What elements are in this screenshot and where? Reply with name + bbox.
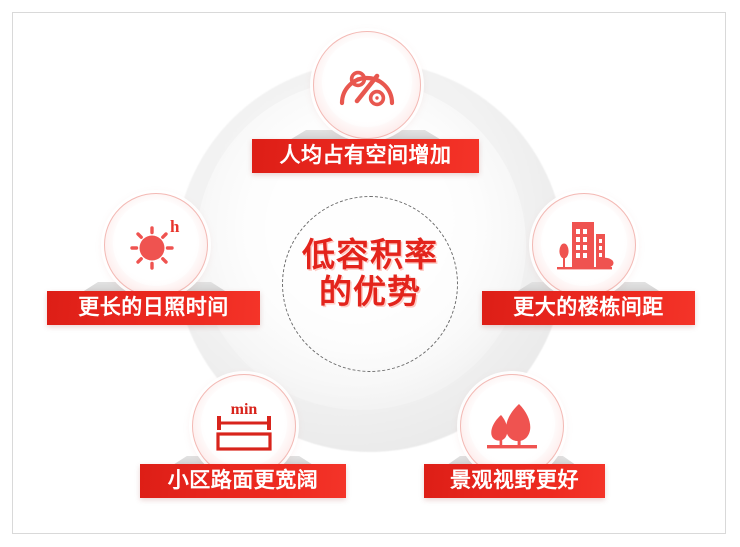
node-right[interactable] — [532, 193, 636, 297]
infographic-canvas: 低容积率 的优势 人均占有空间增加 — [0, 0, 740, 547]
trees-landscape-icon — [460, 374, 564, 478]
label-left[interactable]: 更长的日照时间 — [47, 291, 260, 325]
road-width-min-icon: min — [192, 374, 296, 478]
label-top[interactable]: 人均占有空间增加 — [252, 139, 479, 173]
buildings-spacing-icon — [532, 193, 636, 297]
sun-hours-icon: h — [104, 193, 208, 297]
svg-text:min: min — [231, 401, 258, 418]
label-bottom-right[interactable]: 景观视野更好 — [424, 464, 605, 498]
node-left[interactable]: h — [104, 193, 208, 297]
label-right[interactable]: 更大的楼栋间距 — [482, 291, 695, 325]
center-title: 低容积率 的优势 — [272, 236, 468, 310]
node-bottom-left[interactable]: min — [192, 374, 296, 478]
svg-text:h: h — [170, 217, 180, 236]
center-title-line2: 的优势 — [272, 273, 468, 310]
label-bottom-left[interactable]: 小区路面更宽阔 — [140, 464, 346, 498]
percent-gauge-icon — [313, 31, 421, 139]
node-top[interactable] — [313, 31, 421, 139]
node-bottom-right[interactable] — [460, 374, 564, 478]
center-title-line1: 低容积率 — [302, 236, 438, 273]
